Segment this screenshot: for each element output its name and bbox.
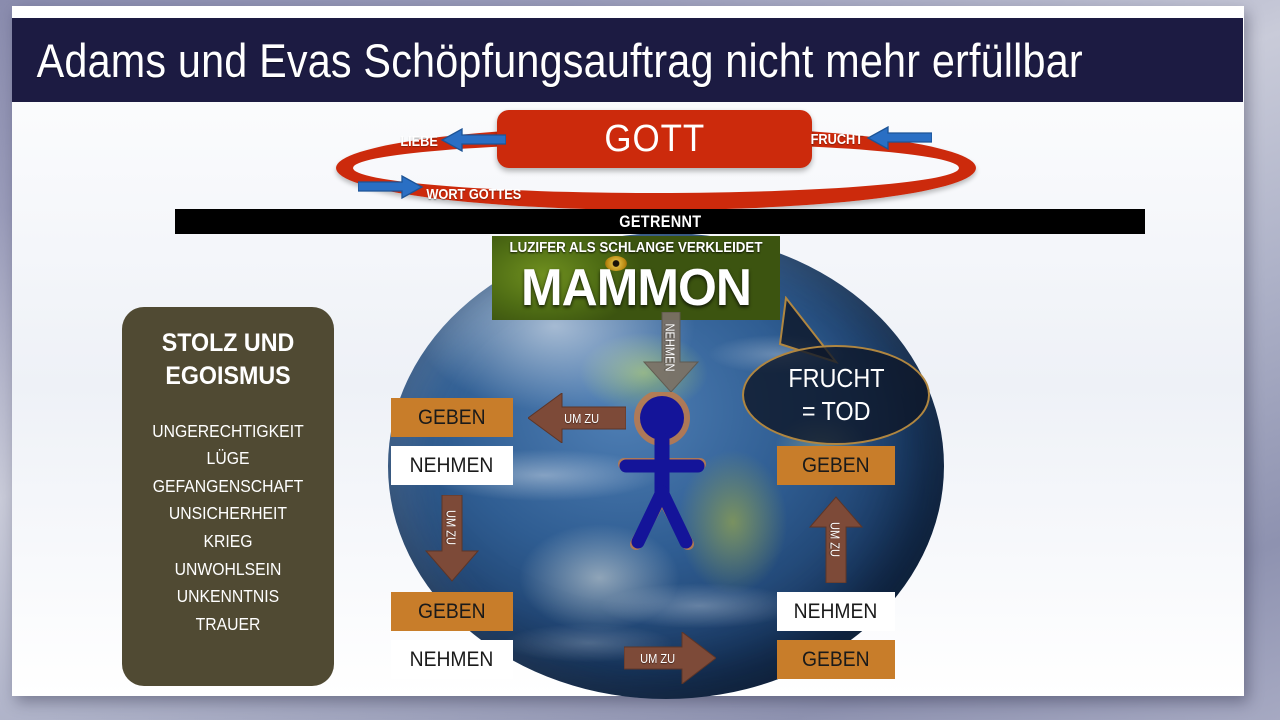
- panel-item: UNKENNTNIS: [142, 583, 315, 611]
- stolz-egoismus-panel: STOLZ UND EGOISMUS UNGERECHTIGKEIT LÜGE …: [122, 307, 334, 686]
- arrow-label-umzu-right: UM ZU: [640, 651, 675, 666]
- separation-divider-bar: GETRENNT: [175, 209, 1145, 234]
- blue-arrow-out-icon: [358, 175, 424, 199]
- panel-item-list: UNGERECHTIGKEIT LÜGE GEFANGENSCHAFT UNSI…: [132, 418, 324, 639]
- slide-title-bar: Adams und Evas Schöpfungsauftrag nicht m…: [12, 18, 1243, 102]
- panel-item: UNWOHLSEIN: [142, 556, 315, 584]
- ring-label-liebe: LIEBE: [400, 133, 438, 150]
- panel-item: GEFANGENSCHAFT: [142, 473, 315, 501]
- panel-heading-line-2: EGOISMUS: [139, 360, 318, 393]
- box-nehmen-top-left: NEHMEN: [391, 446, 513, 485]
- panel-item: UNSICHERHEIT: [142, 500, 315, 528]
- box-label: GEBEN: [418, 406, 486, 430]
- bubble-line-1: FRUCHT: [788, 363, 884, 394]
- box-label: GEBEN: [802, 454, 870, 478]
- box-label: NEHMEN: [794, 600, 878, 624]
- divider-label: GETRENNT: [619, 212, 701, 232]
- ring-label-frucht: FRUCHT: [811, 131, 863, 148]
- box-nehmen-bottom-right: NEHMEN: [777, 592, 895, 631]
- box-geben-bottom-left: GEBEN: [391, 592, 513, 631]
- box-geben-bottom-right: GEBEN: [777, 640, 895, 679]
- human-stick-figure: [612, 392, 712, 552]
- blue-arrow-left-icon: [440, 128, 506, 152]
- panel-item: KRIEG: [142, 528, 315, 556]
- blue-arrow-right-in-icon: [866, 126, 932, 150]
- box-geben-top-left: GEBEN: [391, 398, 513, 437]
- panel-item: UNGERECHTIGKEIT: [142, 418, 315, 446]
- mammon-subtitle: LUZIFER ALS SCHLANGE VERKLEIDET: [504, 240, 769, 256]
- god-label-box: GOTT: [497, 110, 812, 168]
- panel-heading-line-1: STOLZ UND: [139, 327, 318, 360]
- panel-item: LÜGE: [142, 445, 315, 473]
- box-label: GEBEN: [802, 648, 870, 672]
- box-label: NEHMEN: [410, 648, 494, 672]
- arrow-label-umzu-left: UM ZU: [564, 411, 599, 426]
- mammon-snake-banner: LUZIFER ALS SCHLANGE VERKLEIDET MAMMON: [492, 236, 780, 320]
- page-title: Adams und Evas Schöpfungsauftrag nicht m…: [12, 33, 1083, 88]
- arrow-label-umzu-down: UM ZU: [444, 504, 459, 552]
- box-geben-top-right: GEBEN: [777, 446, 895, 485]
- speech-bubble-frucht-tod: FRUCHT = TOD: [742, 345, 930, 445]
- arrow-label-umzu-up: UM ZU: [828, 516, 843, 564]
- panel-item: TRAUER: [142, 611, 315, 639]
- bubble-line-2: = TOD: [802, 396, 871, 427]
- ring-label-wort-gottes: WORT GOTTES: [426, 186, 521, 203]
- box-label: GEBEN: [418, 600, 486, 624]
- box-nehmen-bottom-left: NEHMEN: [391, 640, 513, 679]
- mammon-title: MAMMON: [498, 258, 774, 318]
- box-label: NEHMEN: [410, 454, 494, 478]
- god-label-text: GOTT: [604, 118, 705, 161]
- slide-stage: Adams und Evas Schöpfungsauftrag nicht m…: [0, 0, 1280, 720]
- arrow-label-nehmen-down: NEHMEN: [663, 321, 678, 374]
